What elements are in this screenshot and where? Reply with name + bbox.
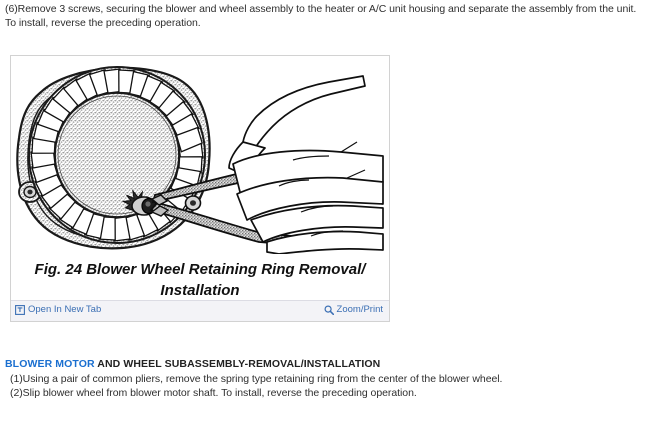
blower-wheel-drawing (11, 56, 389, 254)
figure-caption: Fig. 24 Blower Wheel Retaining Ring Remo… (11, 254, 389, 301)
figure-panel: Fig. 24 Blower Wheel Retaining Ring Remo… (10, 55, 390, 322)
step-item-2: (2)Slip blower wheel from blower motor s… (10, 386, 417, 400)
figure-toolbar: Open In New Tab Zoom/Print (11, 300, 389, 321)
section-heading-rest: AND WHEEL SUBASSEMBLY-REMOVAL/INSTALLATI… (95, 358, 381, 370)
section-heading: BLOWER MOTOR AND WHEEL SUBASSEMBLY-REMOV… (5, 358, 380, 370)
magnifier-icon (324, 305, 334, 315)
zoom-print-label: Zoom/Print (337, 304, 383, 315)
figure-caption-line-2: Installation (11, 280, 389, 301)
step-item-1: (1)Using a pair of common pliers, remove… (10, 372, 502, 386)
figure-illustration (11, 56, 389, 254)
figure-caption-line-1: Fig. 24 Blower Wheel Retaining Ring Remo… (11, 259, 389, 280)
section-heading-highlight: BLOWER MOTOR (5, 358, 95, 370)
zoom-print-button[interactable]: Zoom/Print (324, 304, 383, 315)
intro-paragraph: (6)Remove 3 screws, securing the blower … (5, 2, 647, 30)
open-in-new-tab-label: Open In New Tab (28, 304, 101, 315)
external-window-icon (15, 305, 25, 315)
open-in-new-tab-button[interactable]: Open In New Tab (15, 304, 101, 315)
